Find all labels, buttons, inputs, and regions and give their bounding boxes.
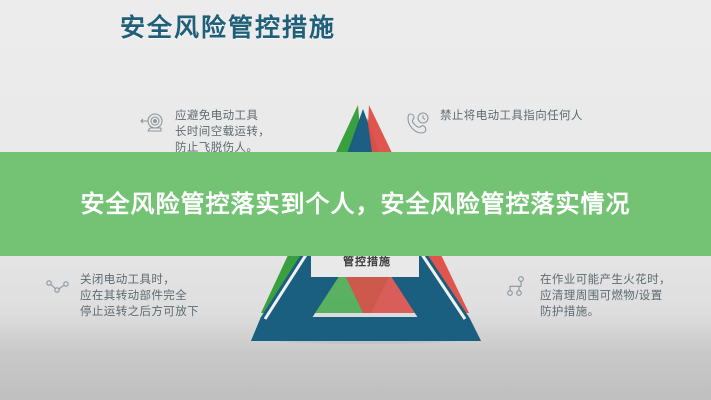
bullet-left-3-text: 关闭电动工具时， 应在其转动部件完全 停止运转之后方可放下 (80, 272, 199, 320)
target-spiral-icon (140, 110, 166, 136)
node-tree-icon (505, 274, 531, 300)
overlay-caption-text: 安全风险管控落实到个人，安全风险管控落实情况 (36, 188, 676, 221)
node-link-icon (45, 274, 71, 300)
bullet-left-1: 应避免电动工具 长时间空载运转， 防止飞脱伤人。 (140, 108, 330, 156)
overlay-caption-band: 安全风险管控落实到个人，安全风险管控落实情况 (0, 152, 711, 256)
bullet-right-1: 禁止将电动工具指向任何人 (405, 108, 655, 136)
bullet-right-3-text: 在作业可能产生火花时， 应清理周围可燃物/设置 防护措施。 (540, 272, 671, 320)
slide-canvas: 安全风险管控措施 (0, 0, 711, 400)
bullet-left-1-text: 应避免电动工具 长时间空载运转， 防止飞脱伤人。 (175, 108, 270, 156)
phone-clock-icon (405, 110, 431, 136)
bullet-right-1-text: 禁止将电动工具指向任何人 (440, 108, 583, 124)
page-title: 安全风险管控措施 (120, 8, 336, 44)
bullet-left-3: 关闭电动工具时， 应在其转动部件完全 停止运转之后方可放下 (45, 272, 260, 320)
bullet-right-3: 在作业可能产生火花时， 应清理周围可燃物/设置 防护措施。 (505, 272, 705, 320)
